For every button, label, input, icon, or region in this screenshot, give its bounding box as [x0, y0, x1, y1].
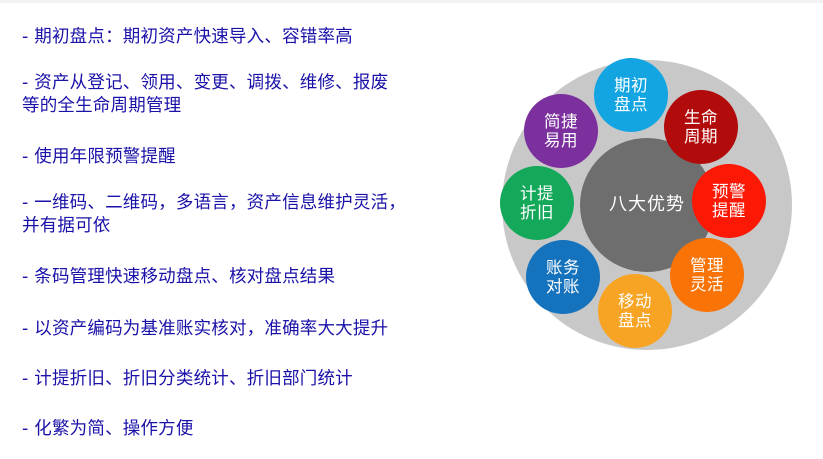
diagram-node-label: 预警 提醒: [712, 182, 746, 220]
eight-advantages-diagram: 八大优势 期初 盘点 生命 周期 预警 提醒 管理 灵活 移动 盘点 账务 对账…: [498, 52, 798, 358]
list-item: - 使用年限预警提醒: [22, 146, 492, 169]
bullet-text: 以资产编码为基准账实核对，准确率大大提升: [34, 319, 388, 339]
bullet-dash: -: [22, 147, 29, 167]
list-item: - 化繁为简、操作方便: [22, 418, 492, 441]
top-decoration-band: [0, 0, 823, 3]
diagram-node-qichu-pandian[interactable]: 期初 盘点: [594, 58, 668, 132]
bullet-text: 使用年限预警提醒: [34, 147, 176, 167]
diagram-node-guanli-linghuo[interactable]: 管理 灵活: [670, 238, 744, 312]
bullet-text: 期初盘点：期初资产快速导入、容错率高: [34, 27, 353, 47]
list-item: - 以资产编码为基准账实核对，准确率大大提升: [22, 318, 492, 341]
diagram-hub-label: 八大优势: [609, 194, 685, 216]
bullet-dash: -: [22, 319, 29, 339]
bullet-text: 一维码、二维码，多语言，资产信息维护灵活， 并有据可依: [22, 193, 406, 236]
diagram-node-label: 计提 折旧: [520, 184, 554, 222]
bullet-text: 化繁为简、操作方便: [34, 419, 193, 439]
bullet-dash: -: [22, 73, 29, 93]
diagram-node-zhangwu-duizhang[interactable]: 账务 对账: [526, 240, 600, 314]
list-item: - 期初盘点：期初资产快速导入、容错率高: [22, 26, 492, 49]
diagram-node-yidong-pandian[interactable]: 移动 盘点: [598, 274, 672, 348]
diagram-node-label: 期初 盘点: [614, 76, 648, 114]
list-item: - 资产从登记、领用、变更、调拨、维修、报废 等的全生命周期管理: [22, 72, 492, 118]
diagram-node-label: 账务 对账: [546, 258, 580, 296]
bullet-text: 资产从登记、领用、变更、调拨、维修、报废 等的全生命周期管理: [22, 73, 388, 116]
list-item: - 一维码、二维码，多语言，资产信息维护灵活， 并有据可依: [22, 192, 492, 238]
diagram-node-label: 移动 盘点: [618, 292, 652, 330]
diagram-node-jianjie-yiyong[interactable]: 简捷 易用: [524, 94, 598, 168]
diagram-node-label: 简捷 易用: [544, 112, 578, 150]
diagram-node-yujing-tixing[interactable]: 预警 提醒: [692, 164, 766, 238]
bullet-dash: -: [22, 193, 29, 213]
bullet-text: 条码管理快速移动盘点、核对盘点结果: [34, 267, 335, 287]
bullet-dash: -: [22, 27, 29, 47]
bullet-text: 计提折旧、折旧分类统计、折旧部门统计: [34, 369, 353, 389]
diagram-node-shengming-zhouqi[interactable]: 生命 周期: [664, 90, 738, 164]
list-item: - 条码管理快速移动盘点、核对盘点结果: [22, 266, 492, 289]
feature-bullet-list: - 期初盘点：期初资产快速导入、容错率高 - 资产从登记、领用、变更、调拨、维修…: [0, 8, 497, 456]
bullet-dash: -: [22, 419, 29, 439]
bullet-dash: -: [22, 267, 29, 287]
list-item: - 计提折旧、折旧分类统计、折旧部门统计: [22, 368, 492, 391]
slide-canvas: - 期初盘点：期初资产快速导入、容错率高 - 资产从登记、领用、变更、调拨、维修…: [0, 0, 823, 459]
diagram-node-label: 生命 周期: [684, 108, 718, 146]
bullet-dash: -: [22, 369, 29, 389]
diagram-node-jiti-zhejiu[interactable]: 计提 折旧: [500, 166, 574, 240]
diagram-node-label: 管理 灵活: [690, 256, 724, 294]
